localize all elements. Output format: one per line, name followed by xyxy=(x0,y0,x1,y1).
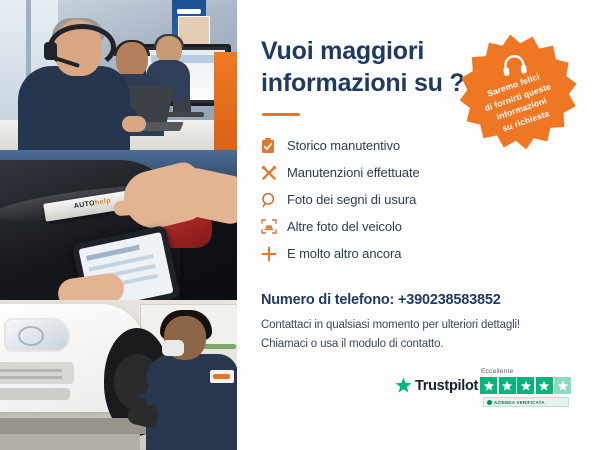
star-filled xyxy=(499,377,516,394)
list-item: Storico manutentivo xyxy=(261,132,491,159)
verified-company-label: AZIENDA VERIFICATA xyxy=(494,400,545,405)
car-scan-icon xyxy=(261,219,287,234)
list-item-label: Altre foto del veicolo xyxy=(287,219,402,234)
title-underline-rule xyxy=(262,113,300,116)
content-panel: Vuoi maggiori informazioni su ? Saremo f… xyxy=(237,0,600,450)
contact-info-banner: AUTOhelp xyxy=(0,0,600,450)
star-filled xyxy=(536,377,553,394)
call-center-photo xyxy=(0,0,237,150)
phone-number-label: Numero di telefono: +390238583852 xyxy=(261,292,561,308)
list-item: E molto altro ancora xyxy=(261,240,491,267)
verified-company-badge: AZIENDA VERIFICATA xyxy=(483,397,569,407)
trustpilot-stars xyxy=(480,377,571,394)
contact-line-2: Chiamaci o usa il modulo di contatto. xyxy=(261,335,561,354)
list-item-label: Manutenzioni effettuate xyxy=(287,165,420,180)
plus-icon xyxy=(261,246,287,262)
car-headlight xyxy=(4,318,70,352)
vehicle-inspection-photo: AUTOhelp xyxy=(0,150,237,300)
orange-column xyxy=(214,52,237,150)
contact-instructions: Contattaci in qualsiasi momento per ulte… xyxy=(261,316,561,353)
verified-check-icon xyxy=(487,400,492,405)
trustpilot-widget[interactable]: Trustpilot Eccellente xyxy=(395,368,587,414)
page-title: Vuoi maggiori informazioni su ? xyxy=(261,36,481,99)
headline-line-1: Vuoi maggiori xyxy=(261,36,481,68)
mechanic xyxy=(146,312,237,450)
photo-column: AUTOhelp xyxy=(0,0,237,450)
clipboard-check-icon xyxy=(261,138,287,154)
trustpilot-rating-label: Eccellente xyxy=(481,368,513,375)
list-item: Altre foto del veicolo xyxy=(261,213,491,240)
trustpilot-star-icon xyxy=(395,377,412,394)
star-half xyxy=(554,377,571,394)
magnifier-icon xyxy=(261,192,287,208)
car-lower-grille xyxy=(0,388,70,400)
workshop-wheel-photo xyxy=(0,300,237,450)
tools-cross-icon xyxy=(261,165,287,181)
lift-platform-lower xyxy=(0,434,140,450)
star-filled xyxy=(517,377,534,394)
contact-line-1: Contattaci in qualsiasi momento per ulte… xyxy=(261,316,561,335)
list-item: Manutenzioni effettuate xyxy=(261,159,491,186)
car-grille xyxy=(0,362,74,384)
headset-operator xyxy=(18,20,130,150)
list-item-label: E molto altro ancora xyxy=(287,246,401,261)
list-item-label: Foto dei segni di usura xyxy=(287,192,416,207)
list-item: Foto dei segni di usura xyxy=(261,186,491,213)
star-filled xyxy=(480,377,497,394)
headline-line-2: informazioni su ? xyxy=(261,68,481,100)
trustpilot-wordmark: Trustpilot xyxy=(415,378,478,394)
trustpilot-logo: Trustpilot xyxy=(395,377,478,394)
list-item-label: Storico manutentivo xyxy=(287,138,400,153)
feature-list: Storico manutentivo Manutenzioni effettu… xyxy=(261,132,491,267)
